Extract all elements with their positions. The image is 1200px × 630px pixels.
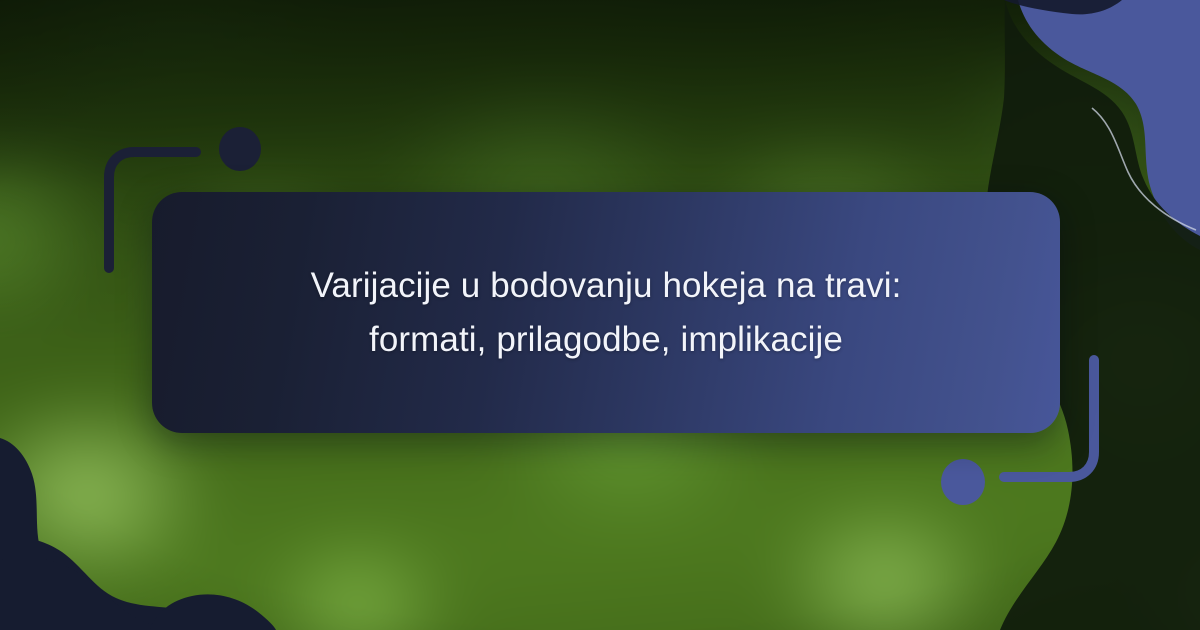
title-card: Varijacije u bodovanju hokeja na travi: … — [152, 192, 1060, 433]
page-title-line-1: Varijacije u bodovanju hokeja na travi: — [311, 266, 902, 305]
page-title: Varijacije u bodovanju hokeja na travi: … — [208, 259, 1004, 366]
page-title-line-2: formati, prilagodbe, implikacije — [369, 320, 843, 359]
accent-dot-bottom-right-icon — [941, 459, 985, 505]
accent-dot-top-left-icon — [219, 127, 261, 171]
social-card-canvas: Varijacije u bodovanju hokeja na travi: … — [0, 0, 1200, 630]
